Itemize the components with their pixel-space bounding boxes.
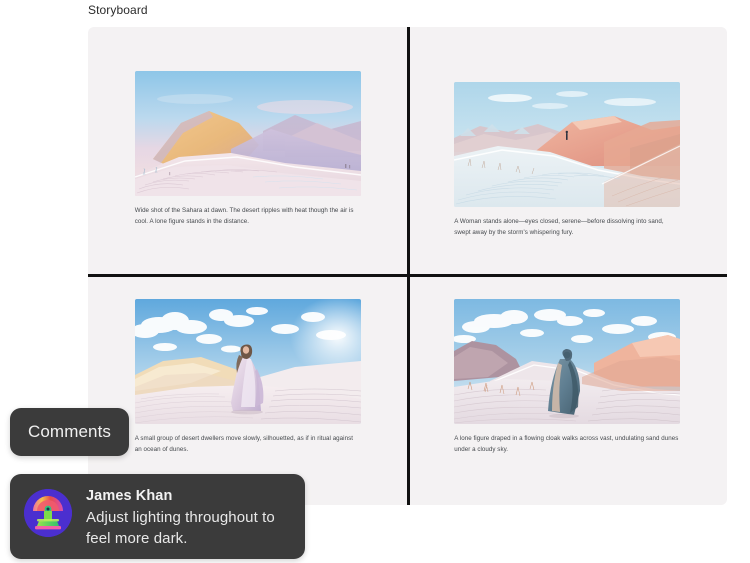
comment-body: James Khan Adjust lighting throughout to… bbox=[86, 486, 291, 549]
storyboard-cell-bottom-right[interactable]: A lone figure draped in a flowing cloak … bbox=[408, 266, 728, 505]
storyboard-image-4[interactable] bbox=[454, 299, 680, 424]
grid-divider-vertical bbox=[407, 27, 410, 505]
comment-text: Adjust lighting throughout to feel more … bbox=[86, 507, 291, 549]
storyboard-panel: Wide shot of the Sahara at dawn. The des… bbox=[88, 27, 727, 505]
page-title: Storyboard bbox=[88, 2, 148, 18]
storyboard-cell-bottom-left[interactable]: A small group of desert dwellers move sl… bbox=[88, 266, 408, 505]
storyboard-image-3[interactable] bbox=[135, 299, 361, 424]
storyboard-cell-top-left[interactable]: Wide shot of the Sahara at dawn. The des… bbox=[88, 27, 408, 266]
storyboard-cell-top-right[interactable]: A Woman stands alone—eyes closed, serene… bbox=[408, 27, 728, 266]
storyboard-caption-2: A Woman stands alone—eyes closed, serene… bbox=[454, 217, 680, 238]
comment-author: James Khan bbox=[86, 487, 291, 506]
comment-card[interactable]: James Khan Adjust lighting throughout to… bbox=[10, 474, 305, 559]
storyboard-caption-3: A small group of desert dwellers move sl… bbox=[135, 434, 361, 455]
storyboard-caption-1: Wide shot of the Sahara at dawn. The des… bbox=[135, 206, 361, 227]
comments-toggle-label: Comments bbox=[28, 422, 111, 442]
storyboard-caption-4: A lone figure draped in a flowing cloak … bbox=[454, 434, 680, 455]
storyboard-image-2[interactable] bbox=[454, 82, 680, 207]
storyboard-image-1[interactable] bbox=[135, 71, 361, 196]
comments-toggle-button[interactable]: Comments bbox=[10, 408, 129, 456]
grid-divider-horizontal bbox=[88, 274, 727, 277]
avatar bbox=[24, 489, 72, 537]
